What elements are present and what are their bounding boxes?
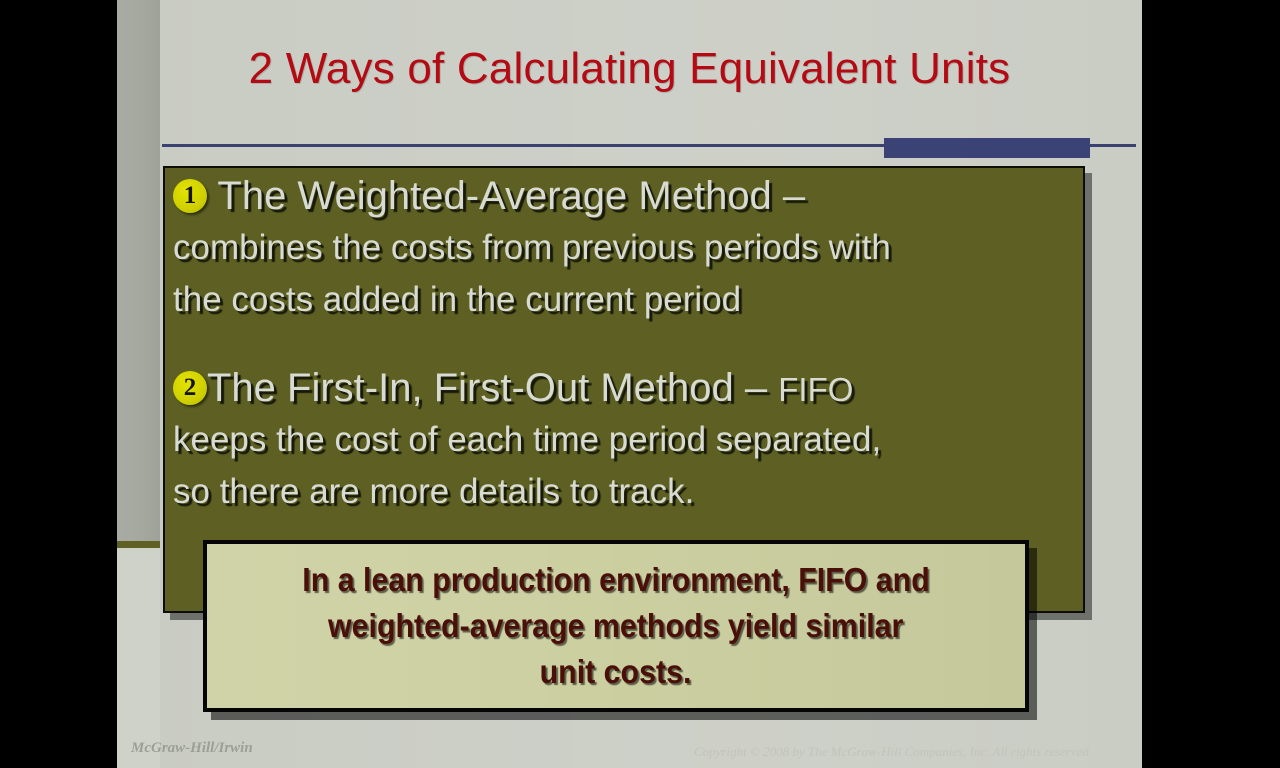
slide-stage: 2 Ways of Calculating Equivalent Units 1… bbox=[0, 0, 1280, 768]
lower-left-panel bbox=[117, 548, 160, 768]
bullet-1-body-line-2: the costs added in the current period bbox=[173, 274, 1079, 326]
bullet-2-lead-text: The First-In, First-Out Method – bbox=[207, 366, 778, 410]
bullet-number-badge-2: 2 bbox=[173, 371, 207, 405]
title-accent-block bbox=[884, 138, 1090, 158]
callout-line-3: unit costs. bbox=[540, 649, 692, 695]
bullet-item-1: 1 The Weighted-Average Method – combines… bbox=[173, 176, 1079, 326]
bullet-1-lead-text: The Weighted-Average Method – bbox=[207, 174, 805, 218]
footer-copyright: Copyright © 2008 by The McGraw-Hill Comp… bbox=[694, 744, 1092, 760]
callout-line-1: In a lean production environment, FIFO a… bbox=[302, 557, 929, 603]
bullet-number-badge-1: 1 bbox=[173, 179, 207, 213]
callout-line-2: weighted-average methods yield similar bbox=[328, 603, 903, 649]
bullet-2-body-line-2: so there are more details to track. bbox=[173, 466, 1079, 518]
left-band-olive-cap bbox=[117, 541, 160, 548]
bullet-2-body-line-1: keeps the cost of each time period separ… bbox=[173, 414, 1079, 466]
slide-canvas: 2 Ways of Calculating Equivalent Units 1… bbox=[117, 0, 1142, 768]
summary-callout-box: In a lean production environment, FIFO a… bbox=[203, 540, 1029, 712]
bullet-2-lead-line: 2The First-In, First-Out Method – FIFO bbox=[173, 368, 1079, 408]
page-title: 2 Ways of Calculating Equivalent Units bbox=[117, 44, 1142, 94]
footer-publisher: McGraw-Hill/Irwin bbox=[131, 740, 253, 757]
bullet-1-body-line-1: combines the costs from previous periods… bbox=[173, 222, 1079, 274]
bullet-2-lead-acronym: FIFO bbox=[778, 371, 853, 408]
bullet-1-lead-line: 1 The Weighted-Average Method – bbox=[173, 176, 1079, 216]
bullet-item-2: 2The First-In, First-Out Method – FIFO k… bbox=[173, 368, 1079, 518]
